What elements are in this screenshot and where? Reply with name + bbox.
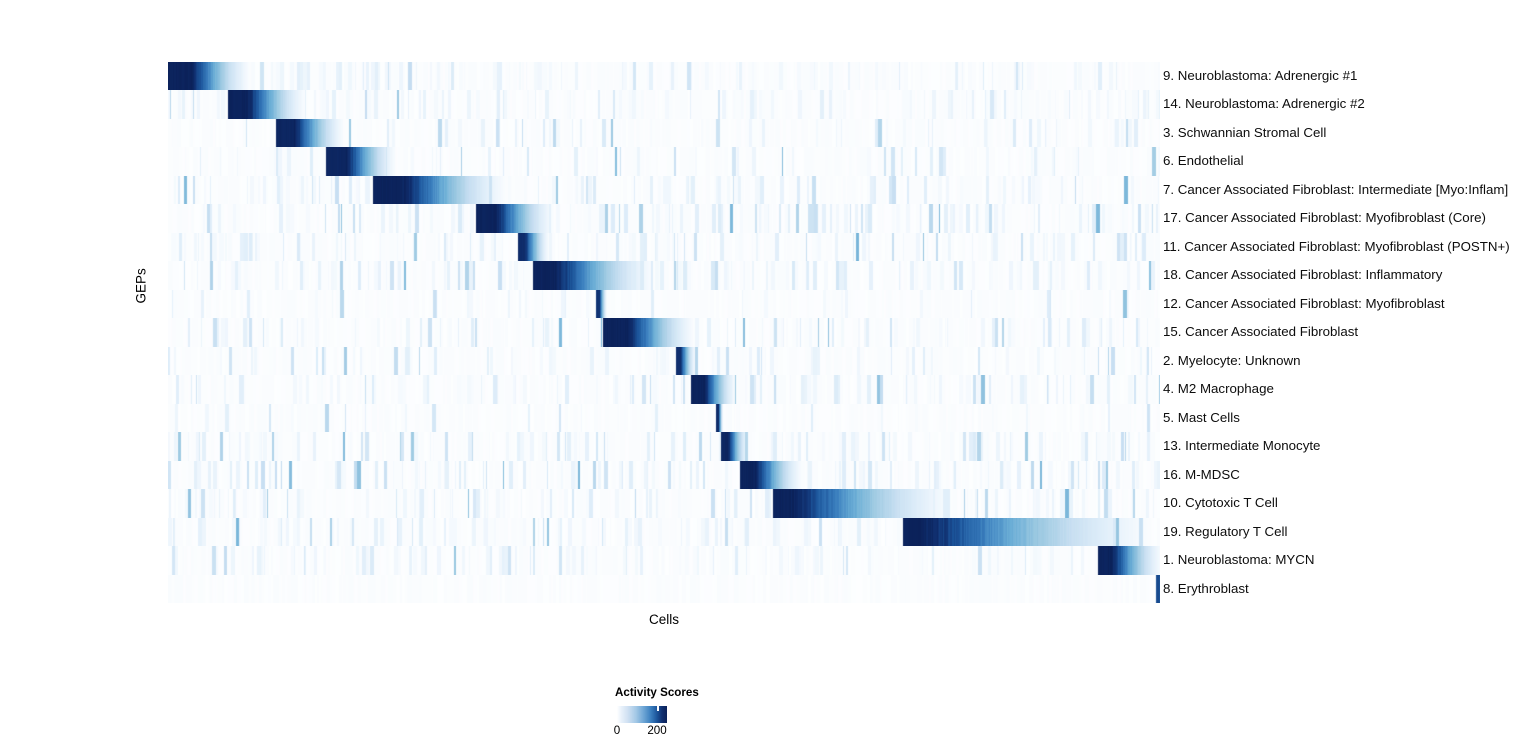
heatmap-row: [168, 461, 1160, 489]
heatmap-row-canvas: [168, 261, 1160, 289]
colorbar-title: Activity Scores: [615, 686, 699, 699]
heatmap-row: [168, 62, 1160, 90]
gep-row-label: 1. Neuroblastoma: MYCN: [1163, 546, 1315, 574]
heatmap-row: [168, 318, 1160, 346]
heatmap-row: [168, 147, 1160, 175]
heatmap-row: [168, 119, 1160, 147]
colorbar-tick: [657, 706, 659, 711]
heatmap-row-canvas: [168, 176, 1160, 204]
colorbar-tick-label: 200: [647, 724, 666, 737]
gep-row-label: 12. Cancer Associated Fibroblast: Myofib…: [1163, 290, 1445, 318]
gep-row-label: 18. Cancer Associated Fibroblast: Inflam…: [1163, 261, 1442, 289]
gep-row-label: 15. Cancer Associated Fibroblast: [1163, 318, 1358, 346]
heatmap-row-canvas: [168, 518, 1160, 546]
heatmap-plot-area: [168, 62, 1160, 603]
heatmap-row-canvas: [168, 233, 1160, 261]
gep-row-label: 6. Endothelial: [1163, 147, 1244, 175]
heatmap-row-canvas: [168, 461, 1160, 489]
heatmap-figure: GEPs Cells 9. Neuroblastoma: Adrenergic …: [0, 0, 1540, 743]
heatmap-row-canvas: [168, 347, 1160, 375]
heatmap-row-canvas: [168, 404, 1160, 432]
heatmap-row: [168, 432, 1160, 460]
gep-row-label: 9. Neuroblastoma: Adrenergic #1: [1163, 62, 1357, 90]
heatmap-row: [168, 404, 1160, 432]
heatmap-row: [168, 233, 1160, 261]
heatmap-row-canvas: [168, 147, 1160, 175]
gep-row-label: 7. Cancer Associated Fibroblast: Interme…: [1163, 176, 1508, 204]
heatmap-row: [168, 546, 1160, 574]
heatmap-row: [168, 347, 1160, 375]
gep-row-label: 17. Cancer Associated Fibroblast: Myofib…: [1163, 204, 1486, 232]
gep-row-label: 11. Cancer Associated Fibroblast: Myofib…: [1163, 233, 1510, 261]
heatmap-row-canvas: [168, 575, 1160, 603]
heatmap-row-canvas: [168, 204, 1160, 232]
gep-row-label: 14. Neuroblastoma: Adrenergic #2: [1163, 90, 1365, 118]
x-axis-label: Cells: [168, 612, 1160, 627]
heatmap-row-canvas: [168, 489, 1160, 517]
gep-row-label: 3. Schwannian Stromal Cell: [1163, 119, 1326, 147]
gep-row-label: 19. Regulatory T Cell: [1163, 518, 1287, 546]
gep-row-label: 13. Intermediate Monocyte: [1163, 432, 1320, 460]
heatmap-row-canvas: [168, 432, 1160, 460]
heatmap-row: [168, 261, 1160, 289]
heatmap-row-canvas: [168, 290, 1160, 318]
heatmap-row: [168, 204, 1160, 232]
heatmap-row: [168, 489, 1160, 517]
y-axis-label: GEPs: [134, 284, 149, 304]
heatmap-row-canvas: [168, 375, 1160, 403]
heatmap-row: [168, 176, 1160, 204]
gep-row-label: 2. Myelocyte: Unknown: [1163, 347, 1300, 375]
heatmap-row-canvas: [168, 119, 1160, 147]
heatmap-row-canvas: [168, 62, 1160, 90]
heatmap-row: [168, 90, 1160, 118]
heatmap-row: [168, 518, 1160, 546]
gep-row-label: 8. Erythroblast: [1163, 575, 1249, 603]
heatmap-row-canvas: [168, 546, 1160, 574]
colorbar-tick-label: 0: [614, 724, 620, 737]
heatmap-row: [168, 375, 1160, 403]
gep-row-label: 4. M2 Macrophage: [1163, 375, 1274, 403]
heatmap-row-canvas: [168, 90, 1160, 118]
heatmap-row: [168, 575, 1160, 603]
gep-row-labels: 9. Neuroblastoma: Adrenergic #114. Neuro…: [1163, 62, 1540, 603]
colorbar-gradient: [617, 706, 667, 723]
heatmap-row: [168, 290, 1160, 318]
gep-row-label: 5. Mast Cells: [1163, 404, 1240, 432]
gep-row-label: 10. Cytotoxic T Cell: [1163, 489, 1278, 517]
gep-row-label: 16. M-MDSC: [1163, 461, 1240, 489]
heatmap-row-canvas: [168, 318, 1160, 346]
